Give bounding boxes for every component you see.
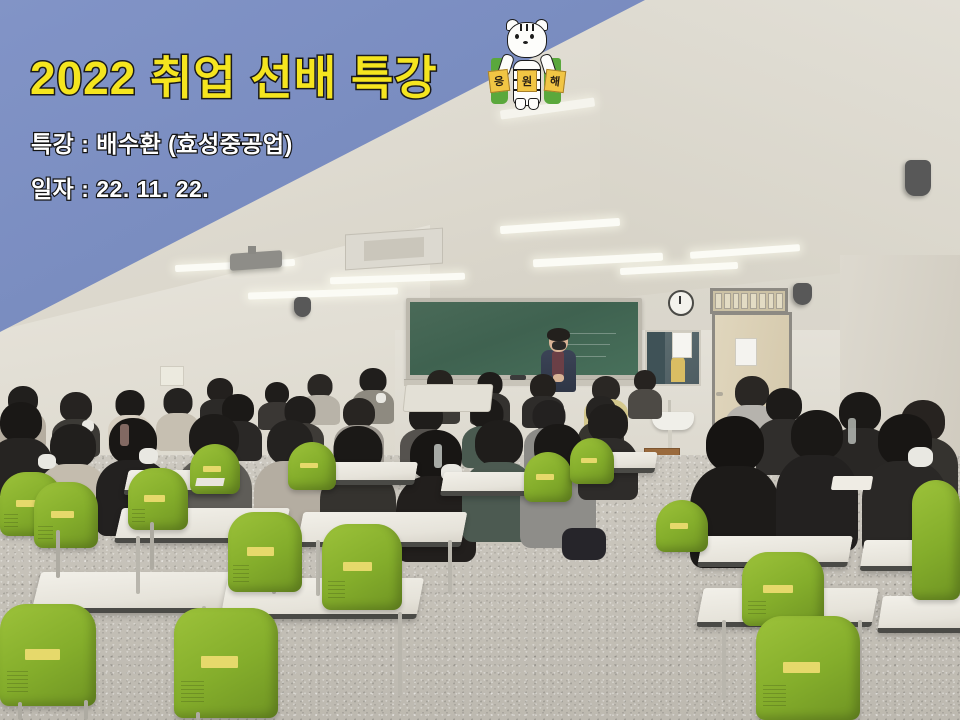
chair-leg <box>150 522 154 570</box>
desk-leg <box>136 536 140 594</box>
white-tiger-mascot: 응 원 해 <box>487 18 565 110</box>
background-person <box>671 356 685 382</box>
paper-document <box>195 478 225 486</box>
water-bottle <box>120 424 129 446</box>
green-chair <box>228 512 302 592</box>
green-chair <box>912 480 960 600</box>
backpack <box>562 528 606 560</box>
desk-leg <box>398 612 402 696</box>
mascot-sign-2: 원 <box>517 70 537 92</box>
chair-leg <box>56 530 60 578</box>
sink-pipe <box>668 430 672 448</box>
green-chair <box>756 616 860 720</box>
projector-mount <box>248 246 256 254</box>
green-chair <box>524 452 572 502</box>
green-chair <box>322 524 402 610</box>
green-chair <box>174 608 278 718</box>
chair-leg <box>18 702 22 720</box>
wall-speaker <box>294 297 311 317</box>
wall-clock <box>668 290 694 316</box>
banner-title: 2022 취업 선배 특강 <box>30 42 438 108</box>
door-transom-window <box>710 288 788 314</box>
green-chair <box>570 438 614 484</box>
mascot-sign-3: 해 <box>544 69 567 93</box>
door-notice-paper <box>735 338 757 366</box>
chair-leg <box>84 700 88 720</box>
green-chair <box>0 604 96 706</box>
wall-speaker <box>793 283 812 305</box>
green-chair <box>742 552 824 626</box>
podium-equipment <box>403 384 494 412</box>
classroom-desk <box>877 596 960 633</box>
desk-leg <box>722 620 726 700</box>
mascot-eye-right <box>530 34 534 39</box>
ceiling-air-conditioner <box>345 228 443 271</box>
paper-document <box>831 476 873 490</box>
mascot-eye-left <box>515 34 519 39</box>
green-chair <box>190 444 240 494</box>
ceiling-projector <box>230 250 282 271</box>
wall-notice-paper <box>672 332 692 358</box>
green-chair <box>34 482 98 548</box>
green-chair <box>656 500 708 552</box>
green-chair <box>288 442 336 490</box>
chair-leg <box>196 712 200 720</box>
mascot-nose <box>523 41 528 44</box>
green-chair <box>128 468 188 530</box>
water-bottle <box>848 418 856 444</box>
water-bottle <box>434 444 442 468</box>
banner-date-line: 일자 : 22. 11. 22. <box>31 170 209 204</box>
chalkboard-surface <box>410 302 638 375</box>
wall-outlet <box>160 366 184 386</box>
door-handle <box>716 392 723 396</box>
mascot-legs <box>515 98 537 108</box>
desk-leg <box>448 540 452 594</box>
banner-lecturer-line: 특강 : 배수환 (효성중공업) <box>31 125 293 159</box>
wall-speaker <box>905 160 931 196</box>
screenshot-root: 응 원 해 2022 취업 선배 특강 특강 : 배수환 (효성중공업) 일자 … <box>0 0 960 720</box>
desk-leg <box>316 540 320 596</box>
mascot-sign-1: 응 <box>488 69 511 93</box>
